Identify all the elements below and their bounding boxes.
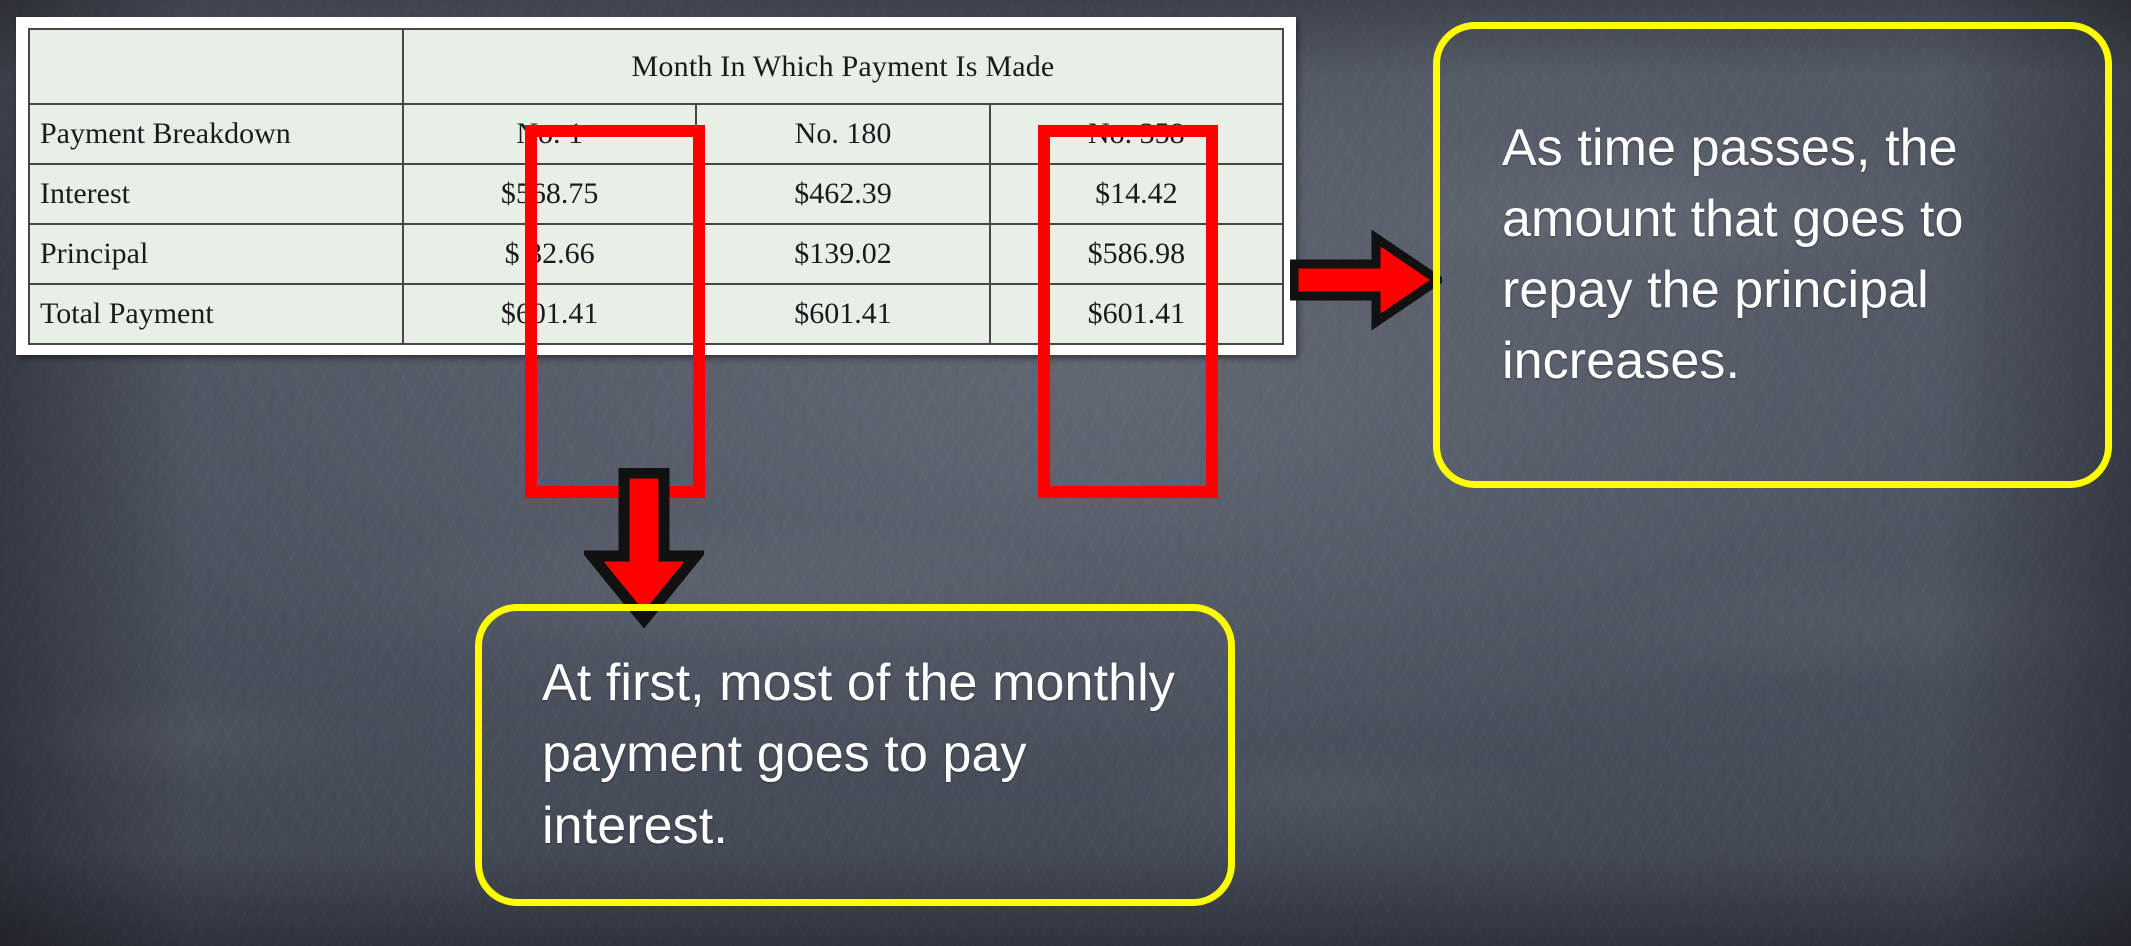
- cell-total-payment-no-180: $601.41: [696, 284, 989, 344]
- callout-interest-first: At first, most of the monthly payment go…: [475, 604, 1235, 906]
- table-row-span-header: Month In Which Payment Is Made: [29, 29, 1283, 104]
- slide-canvas: Month In Which Payment Is Made Payment B…: [0, 0, 2131, 946]
- column-no-1-highlight: [525, 125, 705, 498]
- cell-interest-no-180: $462.39: [696, 164, 989, 224]
- table-corner-blank-cell: [29, 29, 403, 104]
- row-label-principal: Principal: [29, 224, 403, 284]
- cell-principal-no-180: $139.02: [696, 224, 989, 284]
- right-arrow-icon: [1290, 228, 1442, 332]
- callout-right-text: As time passes, the amount that goes to …: [1502, 113, 2071, 398]
- table-span-header-month-in-which-payment-is-made: Month In Which Payment Is Made: [403, 29, 1283, 104]
- row-label-interest: Interest: [29, 164, 403, 224]
- row-label-total-payment: Total Payment: [29, 284, 403, 344]
- callout-bottom-text: At first, most of the monthly payment go…: [542, 648, 1188, 862]
- table-header-month-no-180: No. 180: [696, 104, 989, 164]
- table-header-payment-breakdown: Payment Breakdown: [29, 104, 403, 164]
- column-no-358-highlight: [1038, 125, 1218, 498]
- callout-principal-increases: As time passes, the amount that goes to …: [1433, 22, 2112, 488]
